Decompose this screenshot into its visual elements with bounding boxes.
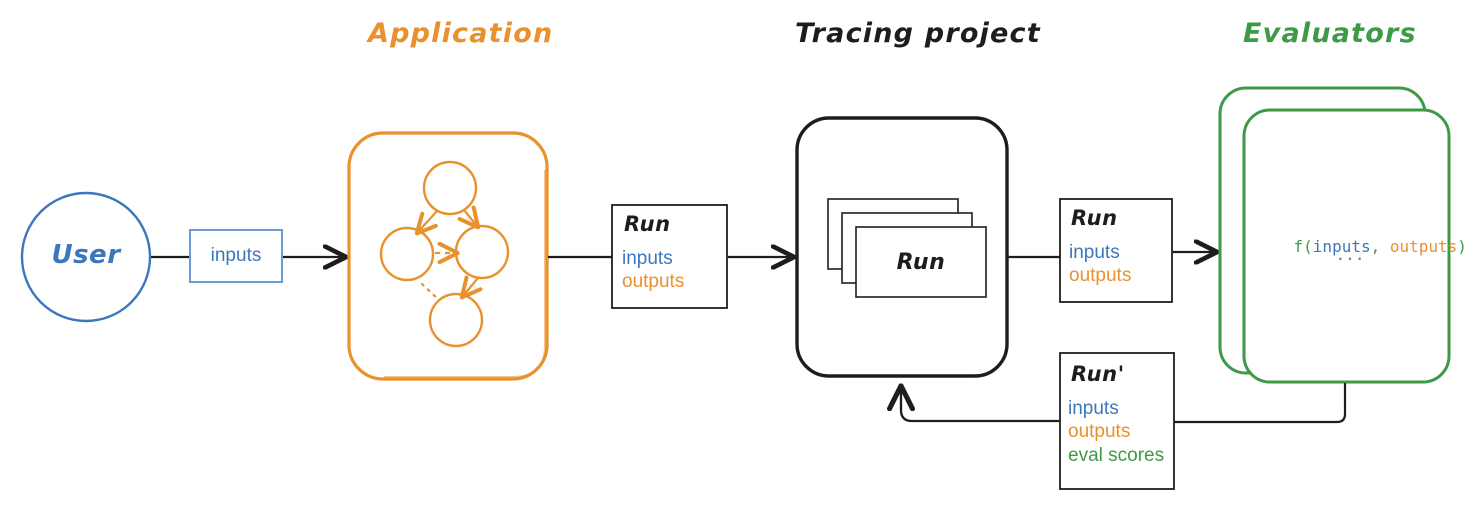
app-node-top	[424, 162, 476, 214]
run-box-2-title: Run	[1071, 206, 1118, 230]
connector-runprime-to-tracing	[901, 388, 1059, 421]
title-evaluators: Evaluators	[1243, 18, 1417, 49]
run-box-1-title: Run	[624, 212, 671, 236]
run-prime-box-title: Run'	[1071, 362, 1125, 386]
user-node-label: User	[46, 240, 126, 270]
connector-evaluators-to-runprime	[1174, 383, 1345, 422]
inputs-box-label: inputs	[190, 245, 282, 267]
run-box-2-field-outputs: outputs	[1069, 265, 1131, 287]
evaluators-code-ellipsis: ...	[1255, 245, 1445, 264]
run-prime-field-inputs: inputs	[1068, 398, 1119, 420]
run-box-2-field-inputs: inputs	[1069, 242, 1120, 264]
run-prime-field-eval-scores: eval scores	[1068, 445, 1164, 467]
evaluators-code-suffix: ) =	[1457, 237, 1474, 256]
run-box-1-field-inputs: inputs	[622, 248, 673, 270]
tracing-run-card-front-label: Run	[856, 250, 986, 275]
diagram-canvas: Application Tracing project Evaluators U…	[0, 0, 1474, 521]
app-node-left	[381, 228, 433, 280]
app-node-right	[456, 226, 508, 278]
run-prime-field-outputs: outputs	[1068, 421, 1130, 443]
run-box-1-field-outputs: outputs	[622, 271, 684, 293]
title-application: Application	[368, 18, 553, 49]
title-tracing-project: Tracing project	[795, 18, 1041, 49]
app-node-bottom	[430, 294, 482, 346]
